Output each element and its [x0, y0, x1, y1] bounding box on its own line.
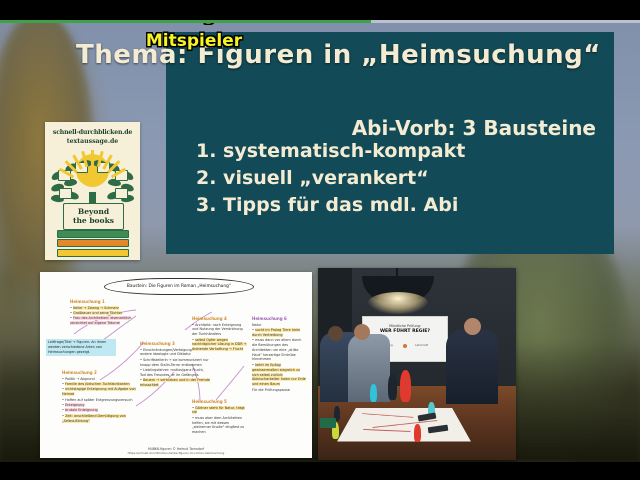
- exam-photo-card: Mündliche Prüfung: WER FÜHRT REGIE? Prüf…: [318, 268, 516, 460]
- mindmap-item: • Großbauer und seine Töchter: [70, 311, 138, 316]
- mindmap-item: • Enteignung: [62, 403, 136, 408]
- mindmap-item: • sucht im Prolog Tiere heim durch Vertr…: [252, 328, 306, 338]
- mindmap-note-text: Leitfrage/Titel → Figuren: An ihnen werd…: [46, 339, 116, 356]
- mindmap-item: • Schriftstellerin → sie kommuniziert nu…: [140, 358, 210, 368]
- mindmap-item: • Keller → Zwang → Schmerz: [70, 306, 138, 311]
- mindmap-item: • muss aber dem Architekten helfen, sie …: [192, 416, 246, 435]
- photo-person-right-head: [464, 318, 481, 335]
- video-slide-frame: Thema: Figuren in „Heimsuchung“ Abi-Vorb…: [0, 0, 640, 480]
- logo-sign-line-2: the books: [73, 217, 114, 226]
- mindmap-column-2: Heimsuchung 2 • Politik → Abgrund • Fami…: [62, 370, 136, 424]
- photo-person-left-head: [328, 326, 343, 341]
- photo-game-figure-cyan: [370, 384, 377, 402]
- mindmap-item: • Lieblingsfahrer: mutlos/ganz Flucht, T…: [140, 368, 210, 378]
- mindmap-heading: Heimsuchung 6: [252, 316, 306, 321]
- mindmap-item: • Gärtner steht für Natur, trägt sie: [192, 406, 246, 416]
- mindmap-heading: Heimsuchung 4: [192, 316, 248, 321]
- mindmap-item: • brutale Enteignung: [62, 408, 136, 413]
- mindmap-item: • kehrt im Epilog gewissermaßen siegreic…: [252, 363, 306, 387]
- mindmap-item: • Politik → Abgrund: [62, 377, 136, 382]
- photo-card-stack: [320, 418, 336, 428]
- mindmap-item: • Bauern → vertrieben und in der Fremde …: [140, 378, 210, 388]
- brand-logo-card: schnell-durchblicken.de textaussage.de: [45, 122, 140, 260]
- logo-domain-1: schnell-durchblicken.de: [45, 129, 140, 136]
- mindmap-footer: M4BK6-figuren © Helmut Tornsdorf https:/…: [40, 447, 312, 455]
- bullet-item-1: 1. systematisch-kompakt: [196, 138, 465, 165]
- bullet-item-2: 2. visuell „verankert“: [196, 165, 465, 192]
- photo-game-board: [337, 408, 471, 442]
- mindmap-item: Für die Prüfungspause: [252, 388, 306, 393]
- bullet-list: 1. systematisch-kompakt 2. visuell „vera…: [196, 138, 465, 219]
- mindmap-column-5: Heimsuchung 5 • Gärtner steht für Natur,…: [192, 399, 246, 436]
- logo-domain-2: textaussage.de: [45, 138, 140, 145]
- mindmap-subheading: Natur: [252, 323, 306, 328]
- mindmap-item: • Frau des Architekten: eisenzeitlich ve…: [70, 316, 138, 326]
- logo-sign: Beyond the books: [63, 203, 124, 230]
- mindmap-column-6: Heimsuchung 6 Natur • sucht im Prolog Ti…: [252, 316, 306, 393]
- photo-person-center: [348, 334, 390, 402]
- mindmap-heading: Heimsuchung 1: [70, 299, 138, 304]
- photo-person-right: [446, 330, 498, 404]
- photo-person-center-head: [354, 324, 370, 340]
- mindmap-card: Baustein: Die Figuren im Roman „Heimsuch…: [40, 272, 312, 458]
- mindmap-url: https://schnell-durchblicken.de/die-figu…: [40, 451, 312, 455]
- sun-ray: [91, 150, 94, 166]
- screen-subtitle: Mündliche Prüfung:: [363, 324, 447, 328]
- books-icon: [57, 228, 129, 257]
- progress-bar-fill: [0, 20, 371, 23]
- tree-icon: Beyond the books: [45, 148, 140, 252]
- mindmap-column-4: Heimsuchung 4 • Architekt: nach Enteignu…: [192, 316, 248, 353]
- mindmap-item: • Architekt: nach Enteignung und Nutzung…: [192, 323, 248, 337]
- mindmap-item: • selbst Opfer wegen nachträglicher Lösu…: [192, 338, 248, 352]
- photo-game-figure-red2: [414, 424, 421, 442]
- mindmap-column-1: Heimsuchung 1 • Keller → Zwang → Schmerz…: [70, 299, 138, 327]
- letterbox-top: [0, 0, 640, 22]
- screen-label-right: Lehrkraft: [415, 343, 428, 347]
- mindmap-item: • Zeit: anschließend Demütigung von „Sel…: [62, 414, 136, 424]
- progress-bar-track[interactable]: [0, 20, 640, 23]
- mindmap-note: Leitfrage/Titel → Figuren: An ihnen werd…: [46, 339, 116, 356]
- screen-dot: [403, 344, 407, 348]
- letterbox-bottom: [0, 462, 640, 480]
- photo-lamp-glow: [368, 292, 428, 314]
- photo-caption-line-2: Mitspieler: [120, 28, 268, 54]
- mindmap-heading: Heimsuchung 5: [192, 399, 246, 404]
- mindmap-item: • muss dann vor allem durch die Bemühung…: [252, 338, 306, 362]
- mindmap-item: • nichtstagige Enteignung mit Aufgabe vo…: [62, 387, 136, 397]
- photo-game-figure-red: [400, 370, 411, 402]
- slide-subtitle: Abi-Vorb: 3 Bausteine: [166, 116, 596, 140]
- mindmap-item: • Hoffen auf später Entgrenzungsversuch: [62, 398, 136, 403]
- mindmap-heading: Heimsuchung 2: [62, 370, 136, 375]
- photo-game-figure-dark: [388, 374, 397, 400]
- bullet-item-3: 3. Tipps für das mdl. Abi: [196, 192, 465, 219]
- mindmap-item: • Familie des jüdischen Tuchfabrikanten: [62, 382, 136, 387]
